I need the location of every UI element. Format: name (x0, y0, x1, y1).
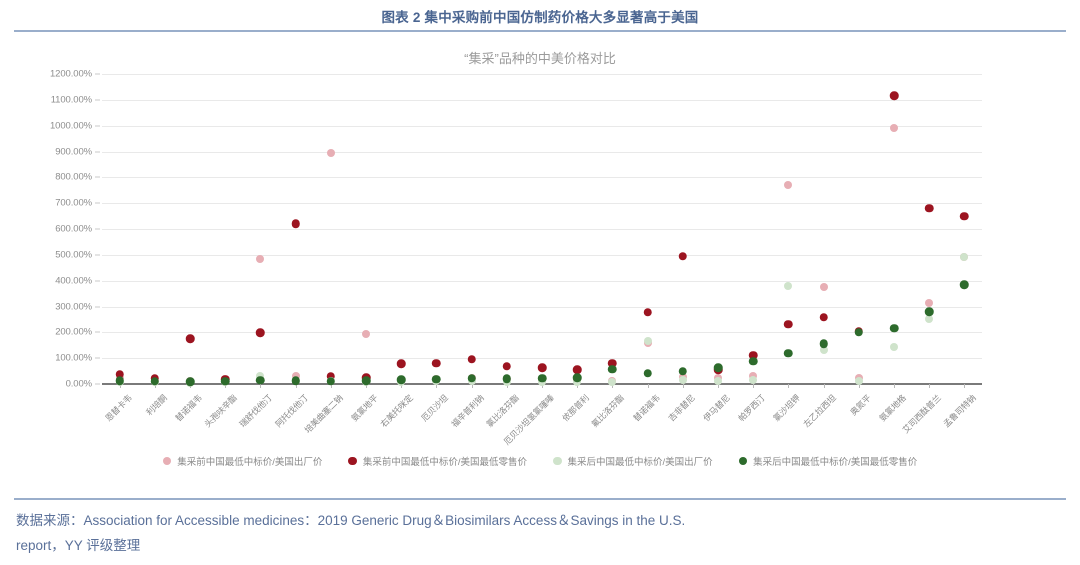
data-point (467, 355, 476, 364)
data-point (538, 364, 547, 373)
y-axis: 0.00%100.00%200.00%300.00%400.00%500.00%… (14, 74, 100, 384)
x-axis-category-label: 替诺福韦 (630, 392, 662, 424)
x-axis-category-label: 利培酮 (143, 392, 169, 418)
y-axis-tick-label: 800.00% (55, 172, 92, 183)
x-axis-category-label: 厄贝沙坦 (419, 392, 451, 424)
y-axis-tick-label: 900.00% (55, 146, 92, 157)
y-axis-tick-label: 0.00% (66, 379, 92, 390)
data-point (573, 374, 582, 383)
data-point (714, 377, 722, 385)
x-axis-category-label: 替诺福韦 (173, 392, 205, 424)
data-point (644, 337, 652, 345)
data-point (115, 377, 124, 386)
y-axis-tick-mark (95, 306, 100, 307)
data-point (362, 330, 370, 338)
legend-marker-icon (348, 457, 357, 466)
data-point (432, 375, 441, 384)
legend-label: 集采前中国最低中标价/美国出厂价 (177, 454, 322, 468)
y-axis-tick-mark (95, 229, 100, 230)
y-axis-tick-mark (95, 280, 100, 281)
x-axis-category-label: 左乙拉西坦 (800, 392, 838, 430)
data-point (679, 252, 688, 261)
gridline (102, 74, 982, 75)
gridline (102, 177, 982, 178)
data-point (151, 377, 160, 386)
gridline (102, 255, 982, 256)
plot-wrapper: 0.00%100.00%200.00%300.00%400.00%500.00%… (14, 74, 1066, 414)
x-axis-category-label: 氨氯地平 (349, 392, 381, 424)
exhibit-title: 图表 2 集中采购前中国仿制药价格大多显著高于美国 (0, 6, 1080, 26)
legend-item[interactable]: 集采前中国最低中标价/美国出厂价 (163, 454, 323, 468)
data-point (749, 357, 758, 366)
data-point (960, 253, 968, 261)
chart-legend: 集采前中国最低中标价/美国出厂价集采前中国最低中标价/美国最低零售价集采后中国最… (14, 454, 1066, 468)
data-point (890, 92, 899, 101)
gridline (102, 358, 982, 359)
y-axis-tick-mark (95, 203, 100, 204)
data-point (749, 376, 757, 384)
y-axis-tick-mark (95, 384, 100, 385)
y-axis-tick-label: 700.00% (55, 198, 92, 209)
data-point (643, 369, 652, 378)
data-point (855, 328, 864, 337)
data-point (327, 149, 335, 157)
data-point (573, 365, 582, 374)
x-axis-category-label: 氨氯地格 (877, 392, 909, 424)
y-axis-tick-mark (95, 125, 100, 126)
data-point (679, 376, 687, 384)
data-point (186, 378, 195, 387)
data-point (256, 255, 264, 263)
data-point (467, 374, 476, 383)
data-point (327, 377, 336, 386)
legend-label: 集采前中国最低中标价/美国最低零售价 (363, 454, 527, 468)
data-point (186, 335, 195, 344)
data-point (608, 365, 617, 374)
data-point (714, 364, 723, 373)
data-point (221, 377, 230, 386)
x-axis-category-label: 恩替卡韦 (102, 392, 134, 424)
gridline (102, 332, 982, 333)
title-divider (14, 30, 1066, 32)
data-point (890, 124, 898, 132)
data-point (291, 220, 300, 229)
x-axis-category-label: 孟鲁司特钠 (941, 392, 979, 430)
footer-divider (14, 498, 1066, 500)
x-axis-category-label: 福辛普利钠 (448, 392, 486, 430)
data-point (890, 324, 899, 333)
x-axis-category-label: 依那普利 (560, 392, 592, 424)
y-axis-tick-label: 1200.00% (50, 69, 92, 80)
y-axis-tick-mark (95, 358, 100, 359)
gridline (102, 152, 982, 153)
exhibit-page: 图表 2 集中采购前中国仿制药价格大多显著高于美国 “集采”品种的中美价格对比 … (0, 0, 1080, 565)
y-axis-tick-label: 400.00% (55, 275, 92, 286)
data-point (291, 377, 300, 386)
data-point (890, 343, 898, 351)
data-point (432, 359, 441, 368)
source-line-2: report，YY 评级整理 (16, 533, 1064, 558)
legend-item[interactable]: 集采前中国最低中标价/美国最低零售价 (348, 454, 527, 468)
data-point (679, 367, 688, 376)
gridline (102, 229, 982, 230)
data-point (503, 375, 512, 384)
y-axis-tick-mark (95, 99, 100, 100)
data-point (820, 283, 828, 291)
data-point (784, 320, 793, 329)
data-point (925, 315, 933, 323)
gridline (102, 100, 982, 101)
plot-area (102, 74, 982, 384)
data-point (819, 340, 828, 349)
x-axis-category-label: 奥氮平 (847, 392, 873, 418)
data-point (819, 313, 828, 322)
legend-marker-icon (739, 457, 748, 466)
legend-label: 集采后中国最低中标价/美国出厂价 (568, 454, 713, 468)
gridline (102, 307, 982, 308)
y-axis-tick-label: 100.00% (55, 353, 92, 364)
y-axis-tick-label: 600.00% (55, 224, 92, 235)
data-point (643, 308, 652, 317)
legend-marker-icon (553, 457, 562, 466)
y-axis-tick-label: 500.00% (55, 249, 92, 260)
y-axis-tick-mark (95, 74, 100, 75)
legend-marker-icon (163, 457, 172, 466)
x-axis-category-label: 瑞舒伐他汀 (237, 392, 275, 430)
x-axis-category-label: 帕罗西汀 (736, 392, 768, 424)
data-point (538, 374, 547, 383)
x-axis-category-label: 氯沙坦钾 (771, 392, 803, 424)
x-axis-category-label: 右美托咪定 (378, 392, 416, 430)
data-point (925, 307, 934, 316)
data-point (960, 212, 969, 221)
y-axis-tick-mark (95, 151, 100, 152)
data-point (256, 329, 265, 338)
gridline (102, 281, 982, 282)
chart-title: “集采”品种的中美价格对比 (14, 48, 1066, 67)
gridline (102, 126, 982, 127)
data-point (784, 349, 793, 358)
data-point (925, 204, 934, 213)
x-axis-category-label: 伊马替尼 (701, 392, 733, 424)
y-axis-tick-label: 300.00% (55, 301, 92, 312)
data-point (503, 362, 512, 371)
y-axis-tick-mark (95, 177, 100, 178)
x-axis-category-label: 氟比洛芬酯 (589, 392, 627, 430)
data-point (855, 377, 863, 385)
source-line-1: 数据来源：Association for Accessible medicine… (16, 513, 685, 528)
data-point (925, 299, 933, 307)
y-axis-tick-mark (95, 254, 100, 255)
data-point (256, 376, 265, 385)
x-axis-category-label: 吉非替尼 (665, 392, 697, 424)
legend-label: 集采后中国最低中标价/美国最低零售价 (753, 454, 917, 468)
chart-card: “集采”品种的中美价格对比 0.00%100.00%200.00%300.00%… (14, 34, 1066, 496)
legend-item[interactable]: 集采后中国最低中标价/美国出厂价 (553, 454, 713, 468)
data-point (960, 280, 969, 289)
gridline (102, 203, 982, 204)
y-axis-tick-mark (95, 332, 100, 333)
data-point (784, 282, 792, 290)
data-point (784, 181, 792, 189)
y-axis-tick-label: 1100.00% (51, 94, 92, 105)
y-axis-tick-label: 1000.00% (50, 120, 92, 131)
y-axis-tick-label: 200.00% (55, 327, 92, 338)
data-point (362, 377, 371, 386)
data-point (397, 360, 406, 369)
x-axis-category-label: 头孢呋辛酯 (202, 392, 240, 430)
source-note: 数据来源：Association for Accessible medicine… (16, 508, 1064, 558)
data-point (397, 376, 406, 385)
legend-item[interactable]: 集采后中国最低中标价/美国最低零售价 (739, 454, 918, 468)
